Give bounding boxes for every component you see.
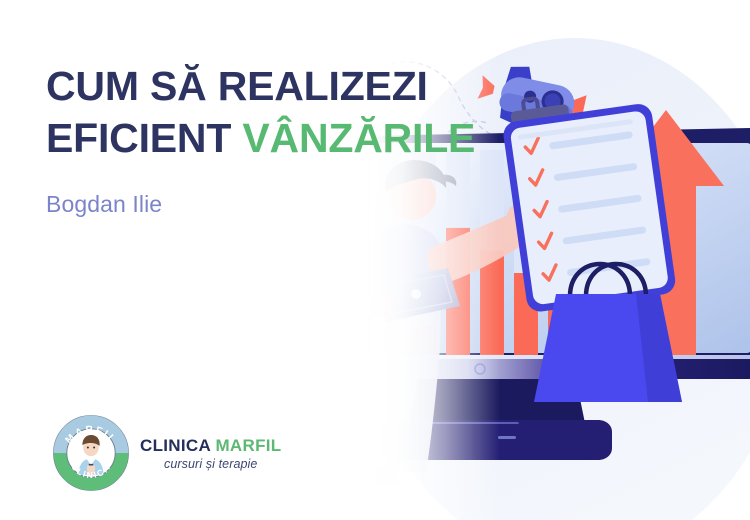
headline-block: CUM SĂ REALIZEZI EFICIENT VÂNZĂRILE Bogd…: [46, 60, 516, 218]
logo-wordmark: CLINICA MARFIL cursuri și terapie: [140, 436, 281, 471]
headline-line-2-prefix: EFICIENT: [46, 115, 231, 161]
author-name: Bogdan Ilie: [46, 191, 516, 218]
logo-name-accent: MARFIL: [215, 436, 281, 455]
headline-accent-word: VÂNZĂRILE: [242, 115, 475, 161]
brand-logo[interactable]: MARFIL CLINICA CLINICA MARFIL cursuri și…: [52, 414, 281, 492]
logo-name: CLINICA MARFIL: [140, 436, 281, 456]
headline-line-2: EFICIENT VÂNZĂRILE: [46, 112, 516, 164]
headline-line-1: CUM SĂ REALIZEZI: [46, 60, 516, 112]
logo-name-primary: CLINICA: [140, 436, 210, 455]
course-banner: CUM SĂ REALIZEZI EFICIENT VÂNZĂRILE Bogd…: [0, 0, 750, 520]
clinic-badge-icon: MARFIL CLINICA: [52, 414, 130, 492]
logo-tagline: cursuri și terapie: [140, 457, 281, 471]
